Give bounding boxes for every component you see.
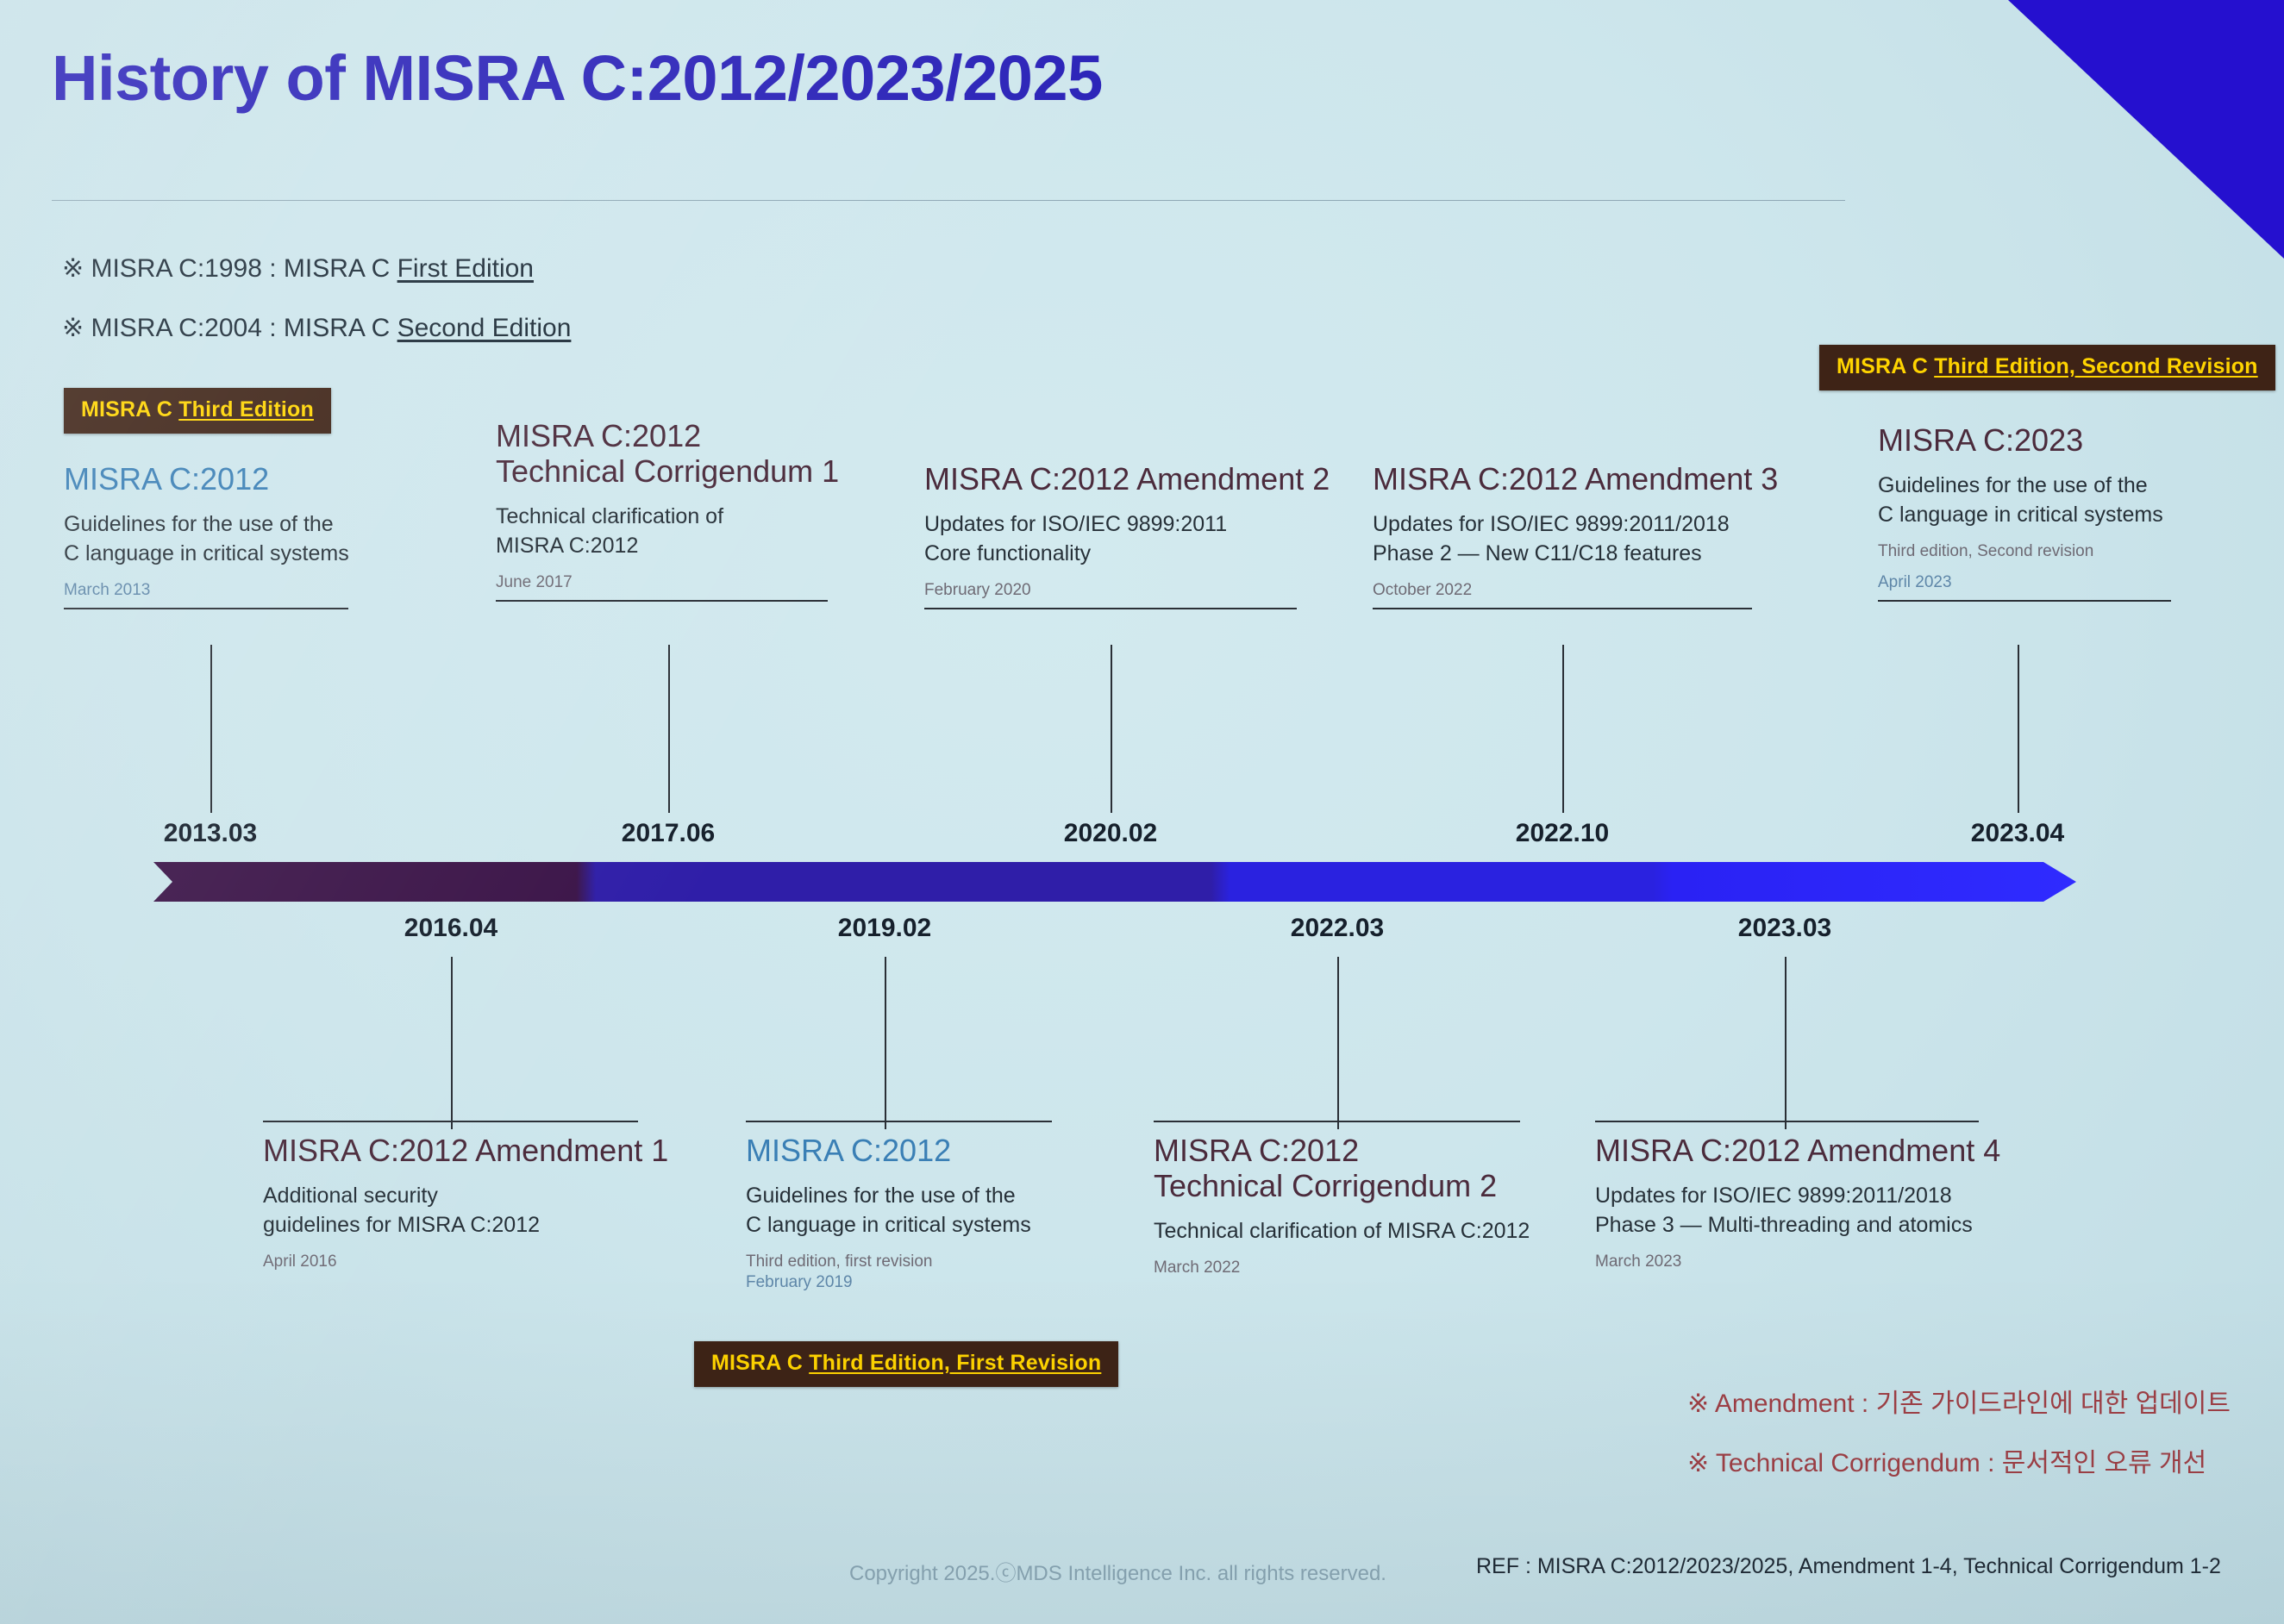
projector-sheen-overlay [0, 0, 2284, 1624]
item-a0-desc-line-2: C language in critical systems [64, 540, 357, 569]
item-a4-desc-line-2: C language in critical systems [1878, 501, 2180, 530]
timeline-arrow-bar [153, 862, 2076, 902]
item-b3-desc-line-1: Updates for ISO/IEC 9899:2011/2018 [1595, 1182, 1983, 1211]
item-b0-description: Additional security guidelines for MISRA… [263, 1182, 642, 1240]
tag-third-edition-second-revision: MISRA C Third Edition, Second Revision [1819, 345, 2275, 390]
note-misra-c-2004: ※ MISRA C:2004 : MISRA C Second Edition [62, 313, 571, 343]
item-a2-heading-line-1: MISRA C:2012 Amendment 2 [924, 461, 1304, 497]
item-b3-date: March 2023 [1595, 1252, 1983, 1271]
item-b2-date: March 2022 [1154, 1259, 1524, 1277]
item-a2-description: Updates for ISO/IEC 9899:2011 Core funct… [924, 510, 1304, 569]
item-b2-heading-line-2: Technical Corrigendum 2 [1154, 1168, 1524, 1203]
stem-2016-04 [451, 957, 453, 1129]
item-a2-date: February 2020 [924, 581, 1304, 600]
tag-third-edition-prefix: MISRA C [81, 397, 178, 422]
item-b0-desc-line-1: Additional security [263, 1182, 642, 1211]
bar-label-2022-10: 2022.10 [1516, 819, 1609, 848]
item-b1-date: February 2019 [746, 1273, 1056, 1292]
item-a1-heading-line-2: Technical Corrigendum 1 [496, 453, 841, 489]
bar-label-2023-03: 2023.03 [1738, 914, 1831, 943]
item-b3-heading-line-1: MISRA C:2012 Amendment 4 [1595, 1133, 1983, 1168]
note-2004-underlined: Second Edition [397, 314, 572, 342]
item-a0-rule [64, 608, 348, 609]
bar-label-2019-02: 2019.02 [838, 914, 931, 943]
stem-2023-03 [1785, 957, 1787, 1129]
stem-2019-02 [885, 957, 886, 1129]
timeline-item-amendment-3: MISRA C:2012 Amendment 3 Updates for ISO… [1373, 461, 1756, 609]
item-b1-subtitle: Third edition, first revision [746, 1252, 1056, 1271]
note-2004-prefix: ※ MISRA C:2004 : MISRA C [62, 314, 397, 342]
bar-label-2023-04: 2023.04 [1971, 819, 2064, 848]
item-a4-date: April 2023 [1878, 573, 2180, 592]
item-a1-date: June 2017 [496, 573, 841, 592]
item-a2-desc-line-2: Core functionality [924, 540, 1304, 569]
tag-second-revision-prefix: MISRA C [1837, 354, 1934, 378]
note-1998-prefix: ※ MISRA C:1998 : MISRA C [62, 254, 397, 283]
timeline-item-amendment-4: MISRA C:2012 Amendment 4 Updates for ISO… [1595, 1121, 1983, 1271]
legend-technical-corrigendum: ※ Technical Corrigendum : 문서적인 오류 개선 [1687, 1441, 2206, 1479]
stem-2023-04 [2018, 645, 2019, 813]
tag-first-revision-underlined: Third Edition, First Revision [809, 1351, 1101, 1375]
item-a4-heading-line-1: MISRA C:2023 [1878, 422, 2180, 458]
item-a3-description: Updates for ISO/IEC 9899:2011/2018 Phase… [1373, 510, 1756, 569]
tag-third-edition-first-revision: MISRA C Third Edition, First Revision [694, 1341, 1118, 1387]
item-a0-date: March 2013 [64, 581, 357, 600]
item-b1-description: Guidelines for the use of the C language… [746, 1182, 1056, 1240]
item-b2-heading-line-1: MISRA C:2012 [1154, 1133, 1524, 1168]
item-b0-desc-line-2: guidelines for MISRA C:2012 [263, 1211, 642, 1240]
tag-first-revision-prefix: MISRA C [711, 1351, 809, 1375]
item-a3-desc-line-2: Phase 2 — New C11/C18 features [1373, 540, 1756, 569]
item-b1-heading-line-1: MISRA C:2012 [746, 1133, 1056, 1168]
footer-copyright: Copyright 2025.ⓒMDS Intelligence Inc. al… [849, 1556, 1386, 1586]
title-divider [52, 200, 1845, 201]
timeline-item-technical-corrigendum-1: MISRA C:2012 Technical Corrigendum 1 Tec… [496, 418, 841, 602]
timeline-item-misra-c-2012-first-revision: MISRA C:2012 Guidelines for the use of t… [746, 1121, 1056, 1292]
item-a1-desc-line-1: Technical clarification of [496, 503, 841, 532]
timeline-item-misra-c-2012: MISRA C:2012 Guidelines for the use of t… [64, 461, 357, 609]
bar-label-2020-02: 2020.02 [1064, 819, 1157, 848]
note-misra-c-1998: ※ MISRA C:1998 : MISRA C First Edition [62, 253, 534, 284]
item-a0-desc-line-1: Guidelines for the use of the [64, 510, 357, 540]
item-a4-subtitle: Third edition, Second revision [1878, 542, 2180, 561]
item-b3-rule [1595, 1121, 1979, 1122]
item-a1-desc-line-2: MISRA C:2012 [496, 532, 841, 561]
bar-label-2016-04: 2016.04 [404, 914, 497, 943]
item-b3-description: Updates for ISO/IEC 9899:2011/2018 Phase… [1595, 1182, 1983, 1240]
item-a4-description: Guidelines for the use of the C language… [1878, 472, 2180, 530]
item-a4-desc-line-1: Guidelines for the use of the [1878, 472, 2180, 501]
timeline-item-amendment-2: MISRA C:2012 Amendment 2 Updates for ISO… [924, 461, 1304, 609]
timeline-item-misra-c-2023: MISRA C:2023 Guidelines for the use of t… [1878, 422, 2180, 602]
item-b2-rule [1154, 1121, 1520, 1122]
stem-2017-06 [668, 645, 670, 813]
item-a3-date: October 2022 [1373, 581, 1756, 600]
item-a3-heading-line-1: MISRA C:2012 Amendment 3 [1373, 461, 1756, 497]
item-b0-rule [263, 1121, 638, 1122]
stem-2020-02 [1111, 645, 1112, 813]
item-b1-rule [746, 1121, 1052, 1122]
tag-third-edition-underlined: Third Edition [178, 397, 314, 422]
item-a2-desc-line-1: Updates for ISO/IEC 9899:2011 [924, 510, 1304, 540]
legend-amendment: ※ Amendment : 기존 가이드라인에 대한 업데이트 [1687, 1382, 2231, 1420]
item-a1-heading-line-1: MISRA C:2012 [496, 418, 841, 453]
item-a2-rule [924, 608, 1297, 609]
item-b0-heading-line-1: MISRA C:2012 Amendment 1 [263, 1133, 642, 1168]
item-b0-date: April 2016 [263, 1252, 642, 1271]
item-a1-description: Technical clarification of MISRA C:2012 [496, 503, 841, 561]
tag-third-edition: MISRA C Third Edition [64, 388, 331, 434]
item-b3-desc-line-2: Phase 3 — Multi-threading and atomics [1595, 1211, 1983, 1240]
bar-label-2022-03: 2022.03 [1291, 914, 1384, 943]
item-a3-rule [1373, 608, 1752, 609]
stem-2013-03 [210, 645, 212, 813]
page-title: History of MISRA C:2012/2023/2025 [52, 41, 1103, 115]
note-1998-underlined: First Edition [397, 254, 534, 283]
timeline-item-amendment-1: MISRA C:2012 Amendment 1 Additional secu… [263, 1121, 642, 1271]
stem-2022-10 [1562, 645, 1564, 813]
bar-label-2013-03: 2013.03 [164, 819, 257, 848]
stem-2022-03 [1337, 957, 1339, 1129]
corner-triangle-decoration [2008, 0, 2284, 259]
item-a1-rule [496, 600, 828, 602]
item-b1-desc-line-2: C language in critical systems [746, 1211, 1056, 1240]
item-a0-description: Guidelines for the use of the C language… [64, 510, 357, 569]
item-b1-desc-line-1: Guidelines for the use of the [746, 1182, 1056, 1211]
item-a3-desc-line-1: Updates for ISO/IEC 9899:2011/2018 [1373, 510, 1756, 540]
item-a0-heading: MISRA C:2012 [64, 461, 357, 497]
item-b2-desc-line-1: Technical clarification of MISRA C:2012 [1154, 1217, 1524, 1246]
footer-reference: REF : MISRA C:2012/2023/2025, Amendment … [1476, 1554, 2221, 1579]
tag-second-revision-underlined: Third Edition, Second Revision [1934, 354, 2257, 378]
slide-canvas: History of MISRA C:2012/2023/2025 ※ MISR… [0, 0, 2284, 1624]
item-a4-rule [1878, 600, 2171, 602]
bar-label-2017-06: 2017.06 [622, 819, 715, 848]
item-b2-description: Technical clarification of MISRA C:2012 [1154, 1217, 1524, 1246]
timeline-item-technical-corrigendum-2: MISRA C:2012 Technical Corrigendum 2 Tec… [1154, 1121, 1524, 1277]
